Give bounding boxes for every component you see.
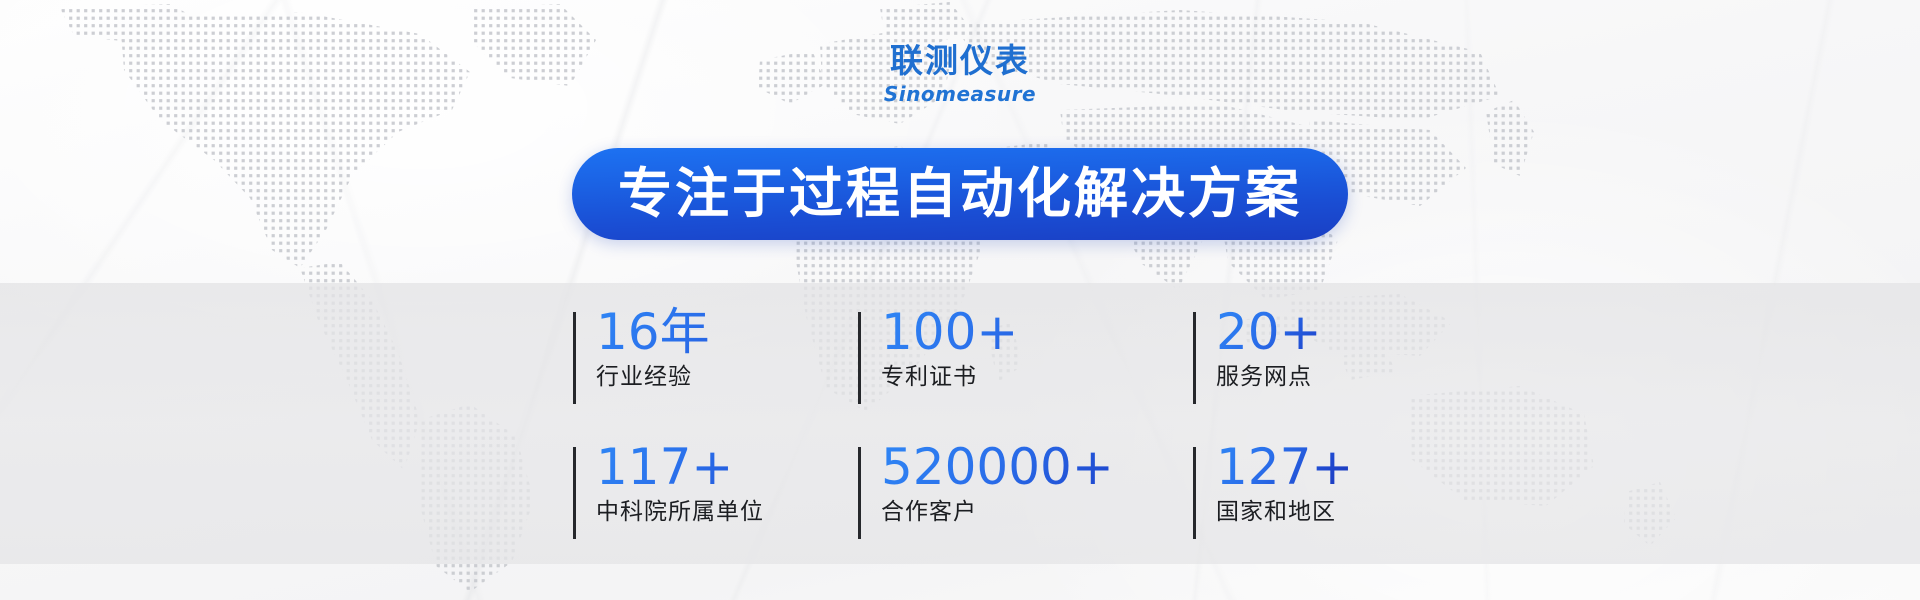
stat-divider-rule [573,312,576,404]
stat-divider-rule [1193,447,1196,539]
stat-value: 117+ [596,441,858,493]
stat-value: 20+ [1216,306,1353,358]
stat-item: 127+ 国家和地区 [1193,441,1353,576]
stat-divider-rule [858,312,861,404]
banner-content: 联测仪表 Sinomeasure 专注于过程自动化解决方案 16年 行业经验 1… [0,0,1920,600]
headline-pill: 专注于过程自动化解决方案 [572,148,1348,240]
stat-item: 520000+ 合作客户 [858,441,1193,576]
headline-text: 专注于过程自动化解决方案 [618,167,1302,221]
stat-value: 127+ [1216,441,1353,493]
stat-divider-rule [573,447,576,539]
stat-label: 专利证书 [881,364,1193,392]
stat-divider-rule [1193,312,1196,404]
logo-name-en: Sinomeasure [0,84,1920,104]
stat-value: 16年 [596,306,858,358]
company-logo: 联测仪表 Sinomeasure [0,44,1920,104]
stat-value: 520000+ [881,441,1193,493]
stat-label: 服务网点 [1216,364,1353,392]
logo-name-cn: 联测仪表 [0,44,1920,77]
stat-label: 行业经验 [596,364,858,392]
stat-label: 国家和地区 [1216,499,1353,527]
stat-label: 中科院所属单位 [596,499,858,527]
stat-item: 117+ 中科院所属单位 [573,441,858,576]
promo-banner: 联测仪表 Sinomeasure 专注于过程自动化解决方案 16年 行业经验 1… [0,0,1920,600]
stat-item: 20+ 服务网点 [1193,306,1353,441]
stat-item: 100+ 专利证书 [858,306,1193,441]
stats-grid: 16年 行业经验 100+ 专利证书 20+ 服务网点 117+ 中科院所属单位 [573,306,1353,576]
stat-value: 100+ [881,306,1193,358]
stat-item: 16年 行业经验 [573,306,858,441]
stat-label: 合作客户 [881,499,1193,527]
stat-divider-rule [858,447,861,539]
headline-container: 专注于过程自动化解决方案 [0,148,1920,240]
